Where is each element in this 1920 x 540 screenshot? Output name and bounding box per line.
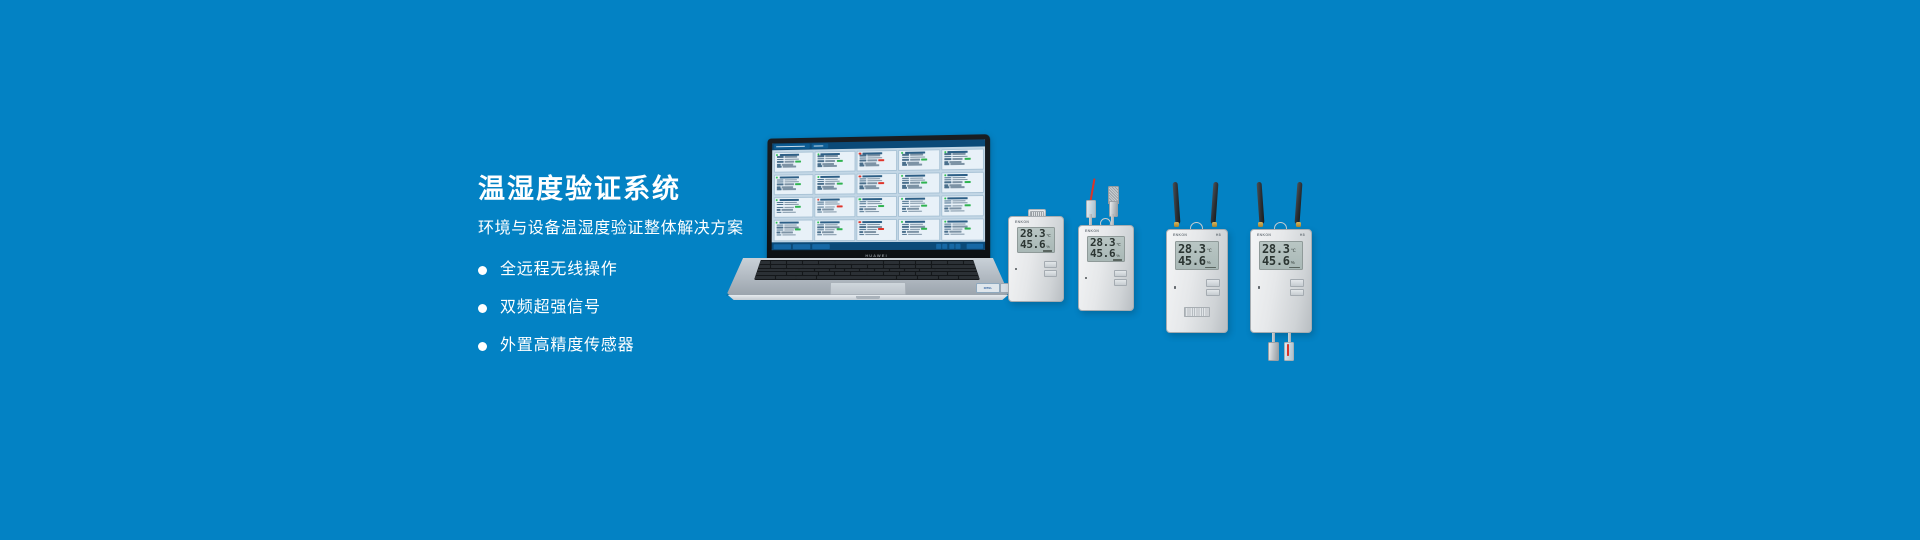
settings-button[interactable] — [812, 244, 830, 249]
laptop-open-notch — [856, 296, 880, 299]
cpu-sticker: INTEL — [976, 283, 1000, 293]
lcd-footer-indicators — [1090, 259, 1122, 261]
export-button[interactable] — [793, 244, 810, 249]
lcd-humidity-value: 45.6 — [1178, 255, 1206, 267]
lcd-humidity-unit: % — [1116, 254, 1120, 258]
device-logger-small-1[interactable]: ENKON 28.3 ℃ 45.6 % — [1008, 216, 1064, 302]
device-body: ENKON H8 28.3 ℃ 45.6 % — [1166, 229, 1228, 333]
keyboard-row — [755, 272, 979, 275]
antenna-right-icon — [1295, 182, 1303, 224]
laptop-product-image: HUAWEI — [718, 136, 1018, 306]
device-controls — [1079, 262, 1133, 286]
lcd-footer-indicators — [1020, 250, 1052, 252]
refresh-button[interactable] — [774, 244, 791, 249]
lcd-humidity-value: 45.6 — [1090, 248, 1115, 259]
page-4-button[interactable] — [955, 243, 960, 248]
feature-label: 双频超强信号 — [500, 298, 601, 318]
cpu-sticker-label: INTEL — [984, 287, 993, 290]
keyboard-row — [755, 265, 979, 268]
antenna-left-icon — [1257, 182, 1265, 224]
laptop-lid: HUAWEI — [767, 134, 990, 261]
lcd-temperature-unit: ℃ — [1046, 234, 1051, 238]
antenna-left-icon — [1173, 182, 1181, 224]
lcd-humidity-line: 45.6 % — [1090, 248, 1122, 259]
laptop-screen — [772, 139, 985, 250]
sensor-card-grid — [772, 146, 985, 242]
sensor-card[interactable] — [856, 219, 897, 241]
feature-item-3: 外置高精度传感器 — [478, 336, 878, 356]
device-body: ENKON 28.3 ℃ 45.6 % — [1078, 225, 1134, 311]
feature-label: 外置高精度传感器 — [500, 336, 634, 356]
device-brand-left: ENKON — [1257, 233, 1271, 237]
dashboard-menu-reports[interactable] — [812, 143, 829, 148]
sensor-card[interactable] — [898, 172, 940, 194]
lcd-humidity-unit: % — [1291, 261, 1295, 266]
lcd-temperature-unit: ℃ — [1116, 243, 1121, 247]
sensor-card[interactable] — [774, 151, 814, 173]
sensor-card[interactable] — [815, 173, 856, 195]
device-lcd-display: 28.3 ℃ 45.6 % — [1087, 236, 1125, 262]
device-lcd-display: 28.3 ℃ 45.6 % — [1175, 241, 1219, 270]
device-button-group[interactable] — [1206, 279, 1220, 296]
power-led-icon — [1258, 286, 1260, 288]
page-1-button[interactable] — [936, 243, 941, 248]
device-brand-row: ENKON H8 — [1251, 230, 1311, 237]
device-brand-row: ENKON — [1009, 217, 1063, 224]
device-brand-row: ENKON — [1079, 226, 1133, 233]
sensor-card[interactable] — [898, 195, 940, 217]
lcd-humidity-value: 45.6 — [1262, 255, 1290, 267]
device-controls — [1167, 270, 1227, 296]
device-lcd-display: 28.3 ℃ 45.6 % — [1017, 227, 1055, 253]
lcd-temperature-unit: ℃ — [1291, 249, 1296, 254]
device-brand-left: ENKON — [1015, 220, 1029, 224]
device-brand-left: ENKON — [1085, 229, 1099, 233]
sensor-card[interactable] — [815, 150, 856, 172]
device-brand-row: ENKON H8 — [1167, 230, 1227, 237]
power-led-icon — [1015, 268, 1017, 270]
device-body: ENKON H8 28.3 ℃ 45.6 % — [1250, 229, 1312, 333]
lcd-footer-indicators — [1262, 267, 1300, 269]
lcd-humidity-line: 45.6 % — [1178, 255, 1216, 267]
antenna-base-right — [1296, 222, 1301, 227]
sensor-card[interactable] — [773, 196, 813, 218]
feature-label: 全远程无线操作 — [500, 260, 618, 280]
sensor-card[interactable] — [814, 196, 855, 218]
keyboard-row — [755, 269, 979, 272]
sensor-card[interactable] — [941, 148, 983, 171]
sensor-card[interactable] — [898, 218, 940, 240]
page-3-button[interactable] — [949, 243, 954, 248]
laptop-keyboard[interactable] — [754, 260, 980, 280]
probe-wire-red — [1287, 344, 1289, 356]
device-button-group[interactable] — [1114, 270, 1127, 286]
sensor-card[interactable] — [856, 172, 897, 194]
keyboard-row — [755, 261, 979, 264]
device-button-up[interactable] — [1206, 279, 1220, 287]
antenna-base-right — [1212, 222, 1217, 227]
lcd-humidity-value: 45.6 — [1020, 239, 1045, 250]
dashboard-menu-realtime[interactable] — [774, 144, 810, 150]
lcd-temperature-value: 28.3 — [1262, 243, 1290, 255]
device-button-up[interactable] — [1044, 261, 1057, 268]
device-button-down[interactable] — [1206, 289, 1220, 297]
device-body: ENKON 28.3 ℃ 45.6 % — [1008, 216, 1064, 302]
lcd-humidity-line: 45.6 % — [1262, 255, 1300, 267]
sensor-card[interactable] — [941, 195, 983, 217]
sensor-card[interactable] — [941, 218, 983, 240]
antenna-right-icon — [1211, 182, 1219, 224]
device-controls — [1251, 270, 1311, 296]
bullet-dot-icon — [478, 304, 487, 313]
power-led-icon — [1174, 286, 1176, 288]
device-logger-wireless-2[interactable]: ENKON H8 28.3 ℃ 45.6 % — [1250, 182, 1312, 333]
lcd-temperature-unit: ℃ — [1207, 249, 1212, 254]
lcd-temperature-line: 28.3 ℃ — [1262, 243, 1300, 255]
device-controls — [1009, 253, 1063, 277]
device-button-group[interactable] — [1044, 261, 1057, 277]
lcd-temperature-line: 28.3 ℃ — [1178, 243, 1216, 255]
lcd-footer-indicators — [1178, 267, 1216, 269]
device-lcd-display: 28.3 ℃ 45.6 % — [1259, 241, 1303, 270]
exit-button[interactable] — [967, 243, 983, 248]
promo-banner: 温湿度验证系统 环境与设备温湿度验证整体解决方案 全远程无线操作 双频超强信号 … — [0, 0, 1920, 540]
keyboard-row — [755, 276, 979, 279]
device-lineup: ENKON 28.3 ℃ 45.6 % — [1000, 180, 1500, 380]
device-button-down[interactable] — [1044, 270, 1057, 277]
power-led-icon — [1085, 277, 1087, 279]
device-button-up[interactable] — [1290, 279, 1304, 287]
laptop-base: INTEL — [718, 256, 1018, 304]
bullet-dot-icon — [478, 342, 487, 351]
sensor-card[interactable] — [941, 171, 983, 194]
antenna-base-left — [1174, 222, 1179, 227]
device-logger-small-2[interactable]: ENKON 28.3 ℃ 45.6 % — [1078, 208, 1134, 311]
sensor-card[interactable] — [773, 219, 813, 241]
device-brand-right: H8 — [1216, 233, 1221, 237]
device-logger-wireless-1[interactable]: ENKON H8 28.3 ℃ 45.6 % — [1166, 182, 1228, 333]
sensor-vent-grill — [1184, 307, 1210, 317]
device-button-down[interactable] — [1290, 289, 1304, 297]
probe-metal-body — [1268, 342, 1279, 361]
device-button-down[interactable] — [1114, 279, 1127, 286]
device-brand-left: ENKON — [1173, 233, 1187, 237]
page-2-button[interactable] — [942, 243, 947, 248]
probe-clear-housing — [1284, 342, 1294, 361]
lcd-humidity-unit: % — [1207, 261, 1211, 266]
sensor-card[interactable] — [898, 149, 940, 172]
sensor-card[interactable] — [856, 196, 897, 218]
lcd-temperature-value: 28.3 — [1178, 243, 1206, 255]
device-button-up[interactable] — [1114, 270, 1127, 277]
laptop-trackpad[interactable] — [830, 282, 906, 295]
antenna-base-left — [1258, 222, 1263, 227]
device-brand-right: H8 — [1300, 233, 1305, 237]
device-button-group[interactable] — [1290, 279, 1304, 296]
pagination — [936, 243, 961, 248]
bullet-dot-icon — [478, 266, 487, 275]
lcd-humidity-unit: % — [1046, 245, 1050, 249]
sensor-card[interactable] — [773, 174, 813, 196]
sensor-card[interactable] — [856, 149, 897, 171]
sensor-card[interactable] — [814, 219, 855, 241]
lcd-humidity-line: 45.6 % — [1020, 239, 1052, 250]
